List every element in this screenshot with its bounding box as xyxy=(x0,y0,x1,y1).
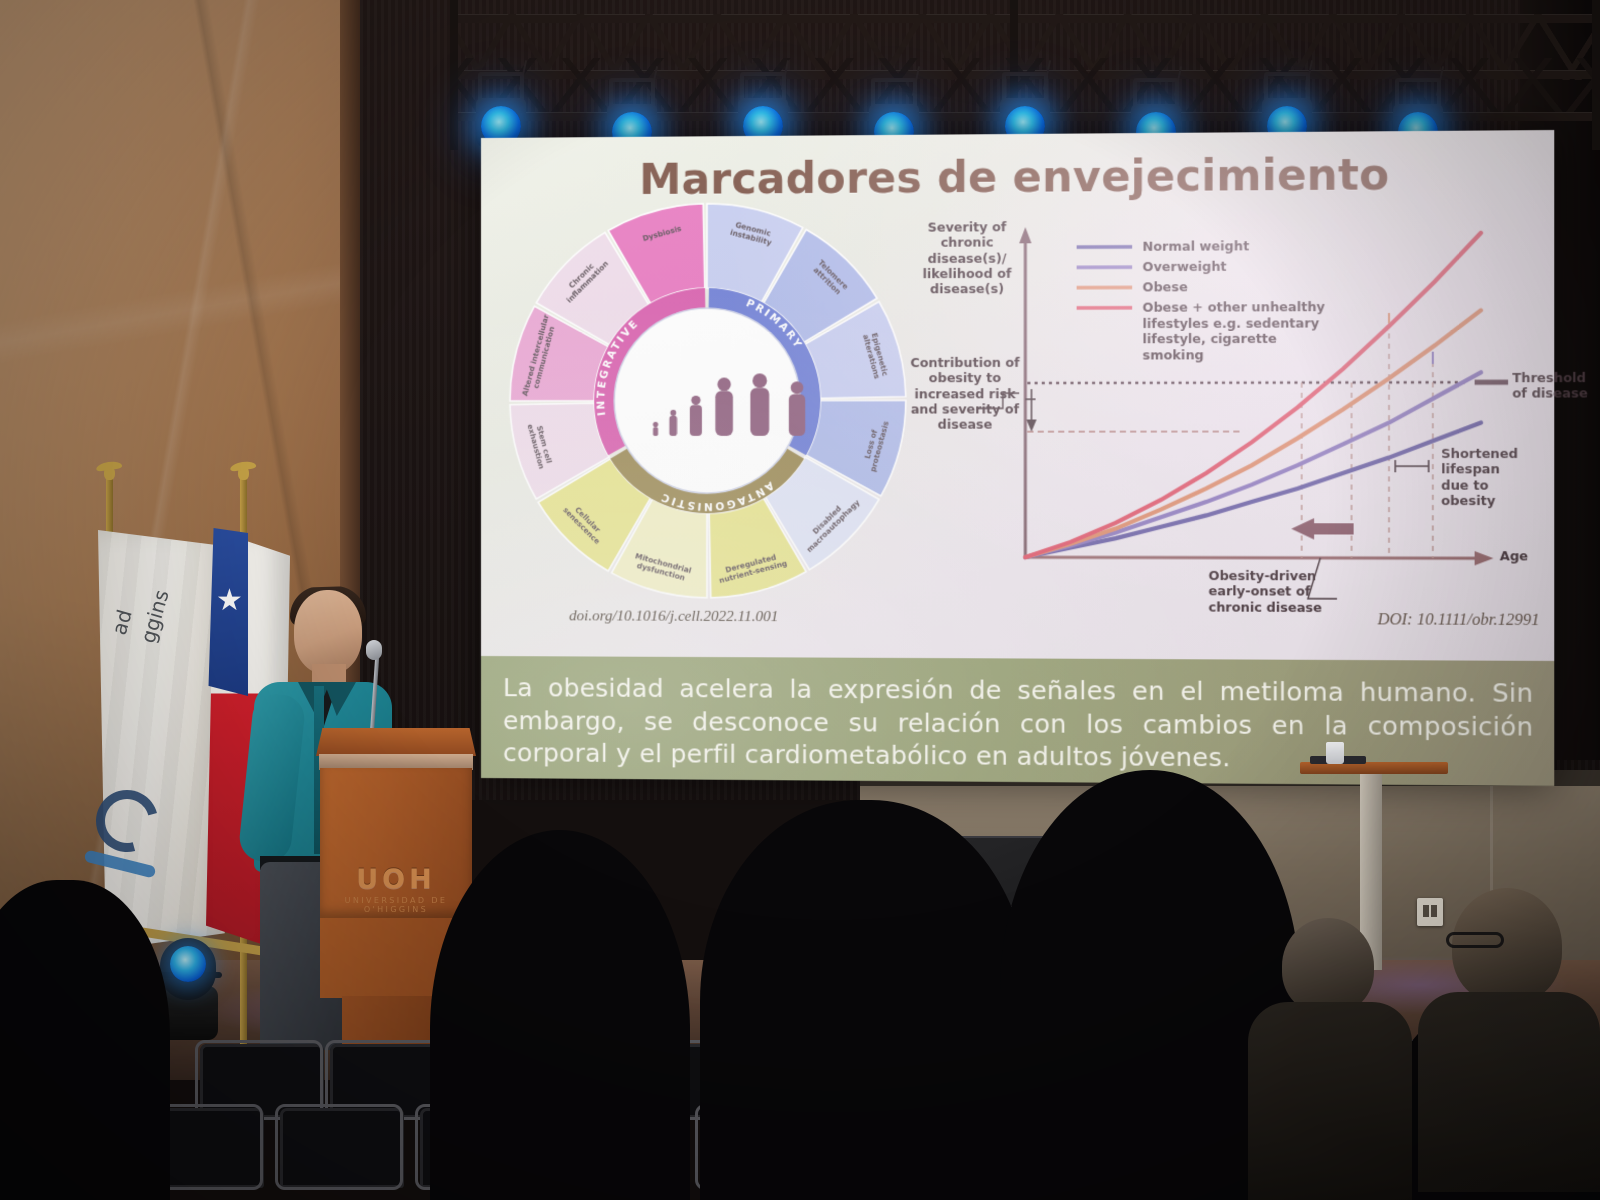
lifespan-figure-6 xyxy=(789,381,805,435)
wheel-svg: PRIMARYANTAGONISTICINTEGRATIVE Genomicin… xyxy=(505,197,911,603)
lifespan-figure-4 xyxy=(715,378,733,436)
wheel-center-circle xyxy=(614,308,800,493)
wheel-doi-citation: doi.org/10.1016/j.cell.2022.11.001 xyxy=(569,608,778,626)
truss-post xyxy=(450,0,458,150)
chart-x-axis-label: Age xyxy=(1500,548,1528,564)
table-cup xyxy=(1326,742,1344,764)
podium-logo-uoh: UOH xyxy=(320,864,472,895)
flag-finial-white xyxy=(96,460,122,482)
obesity-disease-chart: Severity of chronic disease(s)/ likeliho… xyxy=(905,198,1538,608)
legend-label-2: Obese xyxy=(1142,279,1328,296)
chart-threshold-label: Threshold of disease xyxy=(1512,370,1588,401)
podium-front-panel: UOH UNIVERSIDAD DE O'HIGGINS xyxy=(320,768,472,918)
podium-desktop xyxy=(316,728,476,756)
microphone-icon xyxy=(366,640,382,660)
audience-member-silhouette xyxy=(700,800,1030,1200)
audience-shoulders xyxy=(1248,1002,1412,1200)
conference-photo-scene: Marcadores de envejecimiento PRIMARYANTA… xyxy=(0,0,1600,1200)
eyeglasses-icon xyxy=(1446,932,1504,948)
slide-title: Marcadores de envejecimiento xyxy=(481,148,1554,205)
audience-shoulders xyxy=(1418,992,1600,1192)
truss-post xyxy=(1592,0,1600,150)
podium-logo-subtitle: UNIVERSIDAD DE O'HIGGINS xyxy=(320,896,472,914)
audience-head xyxy=(1282,918,1374,1014)
chile-flag-star-icon: ★ xyxy=(216,586,243,616)
legend-label-0: Normal weight xyxy=(1142,238,1328,255)
chart-contribution-label: Contribution of obesity to increased ris… xyxy=(905,355,1026,432)
legend-label-3: Obese + other unhealthy lifestyles e.g. … xyxy=(1142,299,1328,363)
slide-upper-area: Marcadores de envejecimiento PRIMARYANTA… xyxy=(481,130,1554,661)
presenter-head xyxy=(294,590,362,674)
early-onset-arrow xyxy=(1291,518,1353,540)
lifespan-figure-1 xyxy=(653,422,658,436)
projection-screen: Marcadores de envejecimiento PRIMARYANTA… xyxy=(481,130,1554,786)
lifespan-figure-2 xyxy=(669,410,677,436)
wall-outlet xyxy=(1417,898,1443,926)
flag-finial-chile xyxy=(230,460,256,482)
lifespan-figure-5 xyxy=(750,373,769,435)
x-axis-arrow xyxy=(1475,551,1494,565)
legend-label-1: Overweight xyxy=(1142,258,1328,275)
lifespan-figure-3 xyxy=(690,396,702,436)
contribution-arrow xyxy=(1026,420,1036,432)
chart-shortened-lifespan-label: Shortened lifespan due to obesity xyxy=(1441,446,1529,508)
chart-y-axis-label: Severity of chronic disease(s)/ likeliho… xyxy=(907,219,1028,297)
hallmarks-of-aging-wheel: PRIMARYANTAGONISTICINTEGRATIVE Genomicin… xyxy=(505,197,911,603)
chart-x-axis xyxy=(1025,557,1483,558)
chart-doi-citation: DOI: 10.1111/obr.12991 xyxy=(1377,611,1539,630)
moving-light-lens-icon xyxy=(170,946,206,982)
audience-chair-frame xyxy=(275,1104,403,1190)
threshold-line xyxy=(1027,382,1467,383)
audience-member-silhouette xyxy=(430,830,690,1200)
chart-early-onset-label: Obesity-driven early-onset of chronic di… xyxy=(1208,568,1332,615)
